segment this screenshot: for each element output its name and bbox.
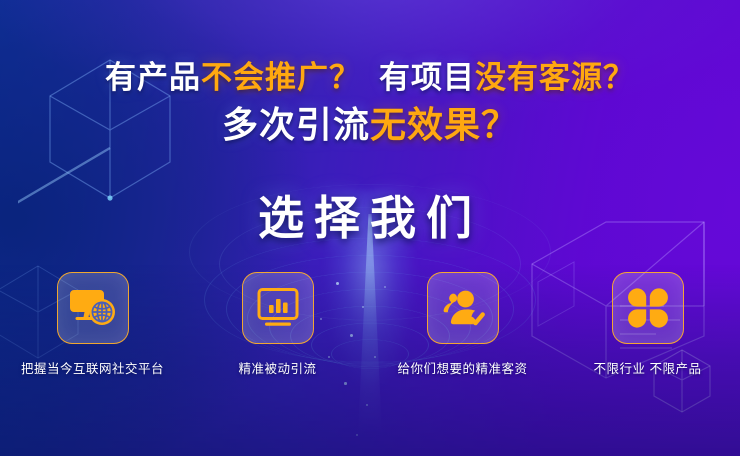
feature-card-2[interactable] — [242, 272, 314, 344]
bar-chart-monitor-icon — [256, 287, 300, 329]
feature-list: 把握当今互联网社交平台 精准被动引流 — [0, 272, 740, 377]
feature-item[interactable]: 把握当今互联网社交平台 — [0, 272, 185, 377]
users-check-icon — [440, 287, 486, 329]
monitor-globe-icon — [70, 287, 116, 329]
feature-card-3[interactable] — [427, 272, 499, 344]
headline-l1-seg-4: 没有客源？ — [475, 60, 635, 95]
feature-card-4[interactable] — [612, 272, 684, 344]
headline-line-1: 有产品不会推广？有项目没有客源？ — [0, 62, 740, 93]
feature-caption: 给你们想要的精准客资 — [397, 358, 527, 377]
feature-item[interactable]: 给你们想要的精准客资 — [370, 272, 555, 377]
headline-l1-seg-3: 有项目 — [379, 60, 475, 95]
feature-item[interactable]: 不限行业 不限产品 — [555, 272, 740, 377]
feature-caption: 不限行业 不限产品 — [594, 358, 702, 377]
headline-l1-seg-2: 不会推广？ — [201, 60, 361, 95]
feature-card-1[interactable] — [57, 272, 129, 344]
headline-l2-seg-1: 多次引流 — [222, 104, 370, 145]
feature-item[interactable]: 精准被动引流 — [185, 272, 370, 377]
four-petal-clover-icon — [626, 286, 670, 330]
headline-l2-seg-2: 无效果？ — [370, 104, 518, 145]
feature-caption: 精准被动引流 — [238, 358, 316, 377]
headline-block: 有产品不会推广？有项目没有客源？ 多次引流无效果？ — [0, 62, 740, 143]
promo-banner: 有产品不会推广？有项目没有客源？ 多次引流无效果？ 选择我们 — [0, 0, 740, 456]
subheadline: 选择我们 — [0, 182, 740, 248]
feature-caption: 把握当今互联网社交平台 — [21, 358, 164, 377]
headline-line-2: 多次引流无效果？ — [0, 107, 740, 143]
headline-l1-seg-1: 有产品 — [105, 60, 201, 95]
